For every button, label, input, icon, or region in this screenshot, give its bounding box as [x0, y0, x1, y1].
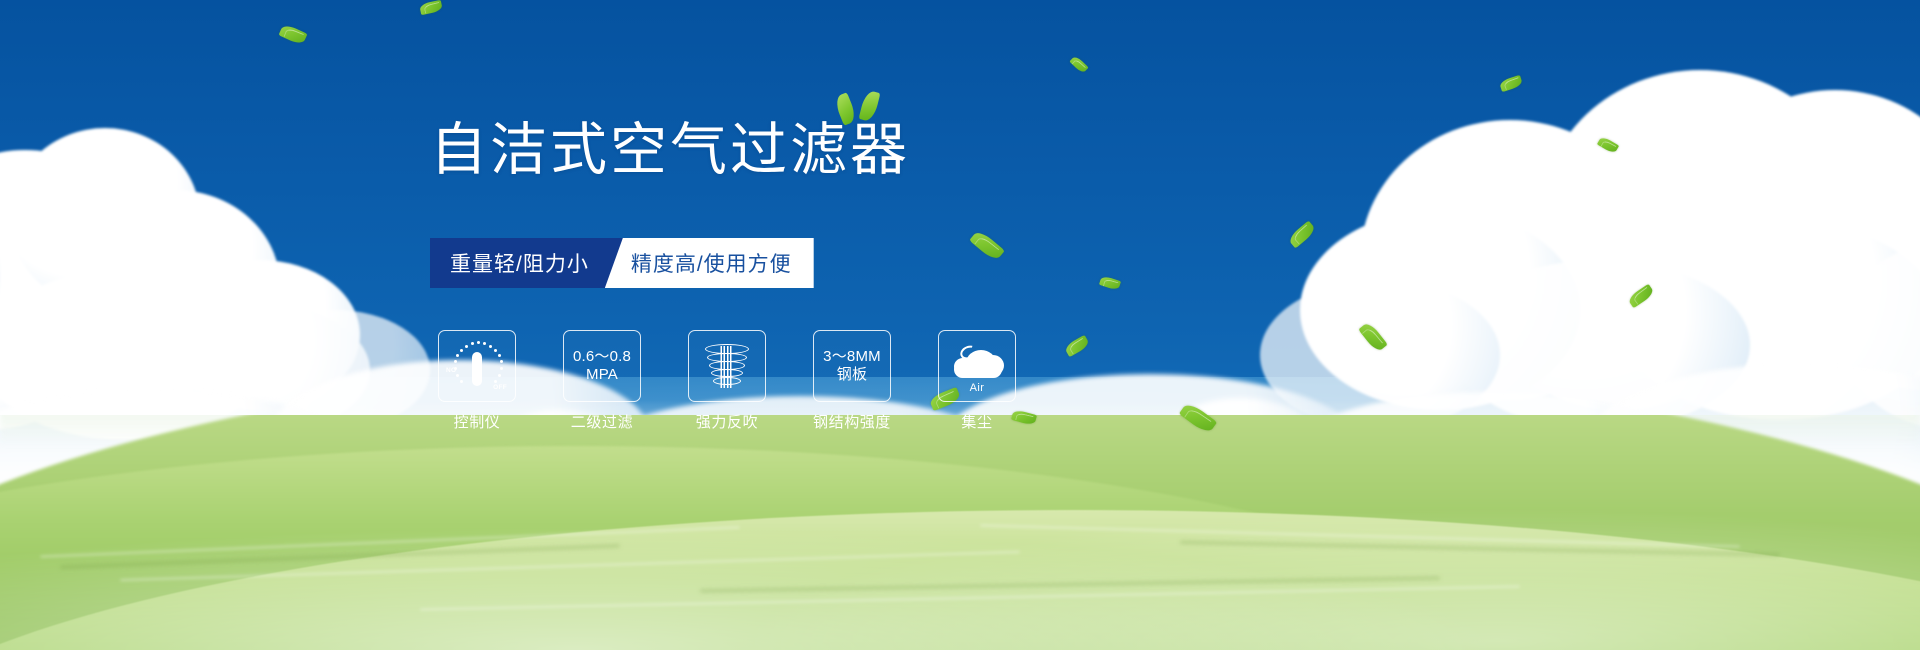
feature-label: 集尘 — [961, 411, 992, 432]
feature-item-pressure[interactable]: 0.6～0.8 MPA 二级过滤 — [563, 330, 641, 432]
gauge-off-label: OFF — [493, 384, 507, 391]
feature-icon-box: 0.6～0.8 MPA — [563, 330, 641, 402]
sprout-leaf-icon — [836, 90, 890, 126]
title-block: 自洁式空气过滤器 — [430, 122, 910, 179]
air-label: Air — [948, 382, 1006, 394]
feature-icon-box: NO OFF — [438, 330, 516, 402]
subtitle-right: 精度高/使用方便 — [605, 238, 814, 288]
pressure-icon-line1: 0.6～0.8 — [573, 348, 631, 366]
steel-icon-line1: 3～8MM — [823, 348, 881, 366]
gauge-icon: NO OFF — [448, 340, 506, 392]
feature-item-dust[interactable]: Air 集尘 — [938, 330, 1016, 432]
feature-item-blowback[interactable]: 强力反吹 — [688, 330, 766, 432]
feature-label: 强力反吹 — [696, 411, 758, 432]
steel-icon-line2: 钢板 — [837, 366, 867, 384]
blowback-icon — [704, 342, 750, 390]
feature-item-controller[interactable]: NO OFF 控制仪 — [438, 330, 516, 432]
feature-icon-box: Air — [938, 330, 1016, 402]
pressure-icon-line2: MPA — [586, 366, 618, 384]
feature-label: 二级过滤 — [571, 411, 633, 432]
banner-content: 自洁式空气过滤器 重量轻/阻力小 精度高/使用方便 — [0, 0, 1920, 650]
feature-list: NO OFF 控制仪 0.6～0.8 MPA 二级过滤 — [438, 330, 1016, 432]
subtitle-left: 重量轻/阻力小 — [430, 238, 623, 288]
hero-banner: 自洁式空气过滤器 重量轻/阻力小 精度高/使用方便 — [0, 0, 1920, 650]
subtitle-bar: 重量轻/阻力小 精度高/使用方便 — [430, 238, 814, 288]
gauge-on-label: NO — [446, 367, 456, 374]
feature-item-steel[interactable]: 3～8MM 钢板 钢结构强度 — [813, 330, 891, 432]
feature-icon-box: 3～8MM 钢板 — [813, 330, 891, 402]
page-title: 自洁式空气过滤器 — [430, 122, 910, 179]
feature-label: 控制仪 — [454, 411, 501, 432]
feature-icon-box — [688, 330, 766, 402]
air-cloud-icon: Air — [948, 342, 1006, 390]
feature-label: 钢结构强度 — [813, 411, 891, 432]
